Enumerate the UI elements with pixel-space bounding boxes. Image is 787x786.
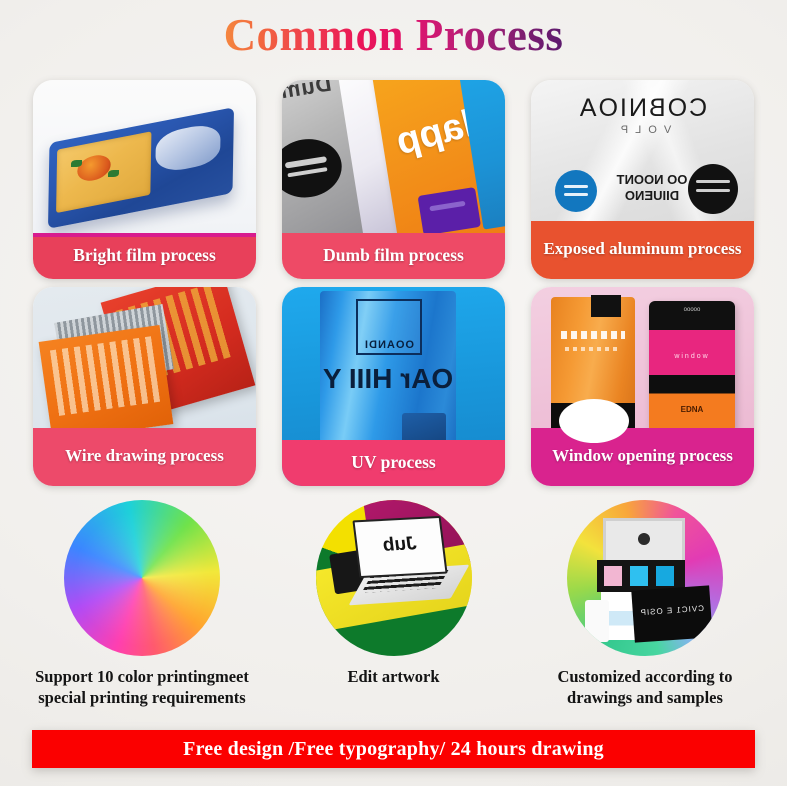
feature-row: Support 10 color printingmeet special pr…	[0, 500, 787, 708]
card-dumb-film-process[interactable]: Dumb Slapp Dumb film process	[282, 80, 505, 279]
footer-banner-text: Free design /Free typography/ 24 hours d…	[183, 738, 604, 761]
pouch-brand-text: COBNIOA	[531, 94, 754, 123]
card-label-text: Bright film process	[73, 245, 216, 265]
feature-caption-customized-samples: Customized according to drawings and sam…	[557, 666, 732, 708]
card-label-uv: UV process	[282, 440, 505, 486]
card-label-text: Dumb film process	[323, 245, 464, 265]
cosmetics-samples-icon: CVIC1 E OSIP	[567, 500, 723, 656]
card-label-bright-film: Bright film process	[33, 233, 256, 279]
laptop-desk-icon: Jub	[316, 500, 472, 656]
card-row-1: Bright film process Dumb Slapp Dumb film…	[0, 80, 787, 279]
tube-panel-text: OOANDI	[358, 339, 420, 351]
caption-line-2: drawings and samples	[557, 687, 732, 708]
card-label-text: UV process	[351, 452, 435, 472]
label-top-strip	[33, 233, 256, 237]
card-label-dumb-film: Dumb film process	[282, 233, 505, 279]
caption-line-1: Support 10 color printingmeet	[35, 666, 249, 687]
jar-top-text: ooooo	[649, 307, 735, 313]
feature-caption-edit-artwork: Edit artwork	[347, 666, 439, 687]
card-label-wire-drawing: Wire drawing process	[33, 428, 256, 486]
pack-text-dumb: Dumb	[282, 80, 333, 107]
card-label-exposed-aluminum: Exposed aluminum process	[531, 221, 754, 279]
card-label-window-opening: Window opening process	[531, 428, 754, 486]
card-bright-film-process[interactable]: Bright film process	[33, 80, 256, 279]
pouch-sub-text: VOLP	[531, 124, 754, 136]
sample-card-text: CVIC1 E OSIP	[633, 603, 711, 617]
footer-banner: Free design /Free typography/ 24 hours d…	[32, 730, 755, 768]
caption-line-1: Customized according to	[557, 666, 732, 687]
card-label-text: Exposed aluminum process	[543, 239, 741, 259]
card-window-opening-process[interactable]: ooooo window EDNA Window opening process	[531, 287, 754, 486]
feature-edit-artwork[interactable]: Jub Edit artwork	[270, 500, 518, 708]
jar-mid-text: window	[649, 353, 735, 360]
feature-customized-samples[interactable]: CVIC1 E OSIP Customized according to dra…	[521, 500, 769, 708]
laptop-screen-text: Jub	[356, 532, 443, 558]
caption-line-2: special printing requirements	[35, 687, 249, 708]
pouch-mid-text: OO NOONT DIIUENO	[609, 172, 695, 204]
caption-line-1: Edit artwork	[347, 666, 439, 687]
process-card-grid: Bright film process Dumb Slapp Dumb film…	[0, 80, 787, 494]
card-label-text: Window opening process	[552, 446, 733, 466]
color-wheel-icon	[64, 500, 220, 656]
card-row-2: Wire drawing process OOANDI OAr HIII Y U…	[0, 287, 787, 486]
card-uv-process[interactable]: OOANDI OAr HIII Y UV process	[282, 287, 505, 486]
poster-root: Common Process Bright film process	[0, 0, 787, 786]
feature-color-printing[interactable]: Support 10 color printingmeet special pr…	[18, 500, 266, 708]
jar-bottom-text: EDNA	[649, 405, 735, 414]
card-exposed-aluminum-process[interactable]: COBNIOA VOLP OO NOONT DIIUENO Exposed al…	[531, 80, 754, 279]
card-wire-drawing-process[interactable]: Wire drawing process	[33, 287, 256, 486]
page-title: Common Process	[224, 8, 564, 62]
card-label-text: Wire drawing process	[65, 446, 224, 466]
tube-big-text: OAr HIII Y	[320, 363, 456, 395]
feature-caption-color-printing: Support 10 color printingmeet special pr…	[35, 666, 249, 708]
page-title-container: Common Process	[0, 8, 787, 62]
